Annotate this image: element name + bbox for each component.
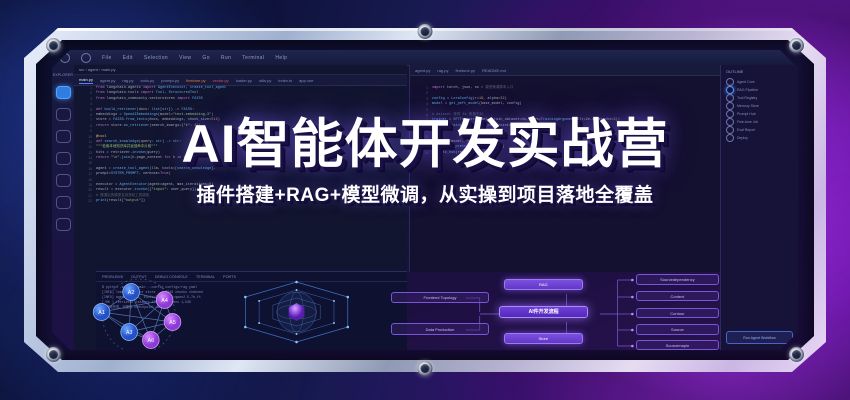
code-token: ) ->: [162, 140, 173, 144]
side-panel-row-label: Eval Report: [737, 128, 755, 132]
side-panel-row[interactable]: Tool Registry: [726, 94, 793, 102]
network-node-label: A6: [148, 338, 155, 344]
side-panel-row[interactable]: Fine-tune Job: [726, 118, 793, 126]
menu-item[interactable]: Selection: [144, 55, 168, 61]
side-panel-row[interactable]: Eval Report: [726, 126, 793, 134]
bezel-bolt-icon: [46, 38, 61, 53]
side-panel-header: OUTLINE: [726, 69, 793, 74]
code-token: ]): [141, 199, 145, 203]
code-token: ): [505, 97, 507, 101]
remote-icon[interactable]: [56, 196, 71, 209]
code-token: (result[: [107, 199, 124, 203]
code-text: prompt=SYSTEM_PROMPT, verbose=True): [96, 172, 171, 177]
code-token: OpenAIEmbeddings: [124, 113, 158, 117]
code-token: (query:: [139, 140, 156, 144]
bezel-bolt-icon: [46, 347, 61, 362]
flow-top-box[interactable]: RAG: [504, 279, 584, 290]
code-token: (model=: [158, 113, 173, 117]
code-token: print: [96, 199, 107, 203]
side-panel-row-label: RAG Pipeline: [737, 88, 758, 92]
side-panel-row[interactable]: Agent Core: [726, 78, 793, 86]
code-token: (resume_from_checkpoint=: [460, 124, 511, 128]
code-token: ): [502, 145, 504, 149]
flow-left-box[interactable]: Data Production: [391, 323, 490, 334]
code-token: # 模型微调脚本入口: [481, 86, 513, 90]
code-token: "agent-demo": [468, 151, 494, 155]
activity-bar-label: EXPLORER: [53, 73, 73, 77]
code-text: return store.as_retriever(search_kwargs=…: [96, 124, 201, 129]
status-dot-icon: [726, 118, 734, 126]
code-token: import: [143, 86, 156, 90]
code-token: import: [432, 86, 445, 90]
editor-tab[interactable]: loader.py: [236, 78, 252, 83]
code-token: (docs:: [137, 108, 152, 112]
code-token: import: [177, 97, 190, 101]
code-token: ): [169, 172, 171, 176]
code-token: (base_model, config): [479, 102, 522, 106]
code-token: invoke: [134, 188, 147, 192]
code-token: ): [211, 183, 213, 187]
code-token: push_to_hub: [432, 151, 455, 155]
code-token: store =: [96, 118, 113, 122]
code-token: "output": [124, 199, 141, 203]
side-panel: OUTLINE Agent CoreRAG PipelineTool Regis…: [720, 65, 798, 350]
menu-item[interactable]: Edit: [123, 55, 133, 61]
code-line: 22print(result["output"]): [74, 199, 407, 204]
network-node-label: A1: [98, 310, 105, 316]
code-text: push_to_hub(repo="agent-demo"): [432, 151, 496, 156]
network-node[interactable]: A3: [121, 324, 138, 341]
editor-tab[interactable]: main.py: [79, 77, 93, 84]
visualization-band: A1A2A3A4A5A6: [74, 272, 720, 350]
code-token: "text-embedding-3": [173, 113, 211, 117]
code-token: (repo=: [455, 151, 468, 155]
code-token: hits = retriever.: [96, 151, 132, 155]
code-token: model: [432, 102, 443, 106]
code-token: FAISS: [192, 97, 203, 101]
status-dot-icon: [726, 86, 734, 94]
code-token: from_texts: [126, 118, 147, 122]
code-text: trainer.train(resume_from_checkpoint=Tru…: [432, 124, 522, 129]
code-token: :: [192, 108, 194, 112]
code-token: list: [152, 108, 161, 112]
app-logo-icon: [81, 53, 91, 63]
code-token: executor =: [96, 183, 119, 187]
status-dot-icon: [726, 78, 734, 86]
code-token: SFTTrainer: [453, 118, 474, 122]
flow-right-box[interactable]: Sourcemapin: [636, 340, 719, 350]
code-token: trainer: [432, 118, 447, 122]
network-node[interactable]: A6: [142, 332, 159, 349]
code-token: config: [432, 97, 445, 101]
code-token: (agent=agent, max_iterations=: [147, 183, 209, 187]
code-text: import torch, json, os # 模型微调脚本入口: [432, 86, 513, 91]
status-dot-icon: [726, 134, 734, 142]
promo-banner: File Edit Selection View Go Run Terminal…: [0, 0, 850, 400]
ide-screen: File Edit Selection View Go Run Terminal…: [52, 50, 798, 350]
flow-right-box[interactable]: Sourcedependency: [636, 274, 719, 285]
code-token: True: [160, 172, 169, 176]
code-text: return "\n".join(h.page_content for h in…: [96, 156, 194, 161]
files-icon[interactable]: [56, 86, 71, 99]
code-token: "input": [152, 188, 167, 192]
code-token: (model, train_dataset=ds, args=: [475, 118, 541, 122]
side-panel-rows: Agent CoreRAG PipelineTool RegistryMemor…: [726, 78, 793, 142]
viz-svg: A1A2A3A4A5A6: [74, 272, 720, 350]
code-token: return: [96, 156, 109, 160]
code-token: (query): [145, 151, 160, 155]
code-text: print(result["output"]): [96, 199, 145, 204]
code-token: ): [520, 124, 522, 128]
code-token: FAISS: [181, 108, 192, 112]
editor-tab[interactable]: rag.py: [122, 78, 133, 83]
code-token: build_retriever: [105, 108, 137, 112]
code-token: : user_query}): [166, 188, 196, 192]
editor-tab[interactable]: prompt.py: [161, 78, 179, 83]
editor-tabs-right: agent.pyrag.pyfinetune.pyREADME.md: [410, 65, 720, 76]
code-token: embeddings =: [96, 113, 124, 117]
code-token: "out/ft-v2": [479, 145, 502, 149]
code-token: from: [96, 91, 105, 95]
code-token: StructuredTool: [169, 91, 199, 95]
code-token: return: [96, 124, 109, 128]
side-panel-row[interactable]: Prompt Hub: [726, 110, 793, 118]
code-token: AgentExecutor: [158, 86, 186, 90]
code-token: (docs, embeddings, chunk_size=: [147, 118, 211, 122]
network-node[interactable]: A5: [164, 314, 181, 331]
code-token: ): [211, 113, 213, 117]
menu-item[interactable]: View: [179, 55, 191, 61]
code-token: (search_kwargs={: [149, 124, 183, 128]
network-node-label: A4: [161, 298, 168, 304]
status-dot-icon: [726, 110, 734, 118]
code-token: import: [141, 91, 154, 95]
code-content-left[interactable]: 1from langchain.agents import AgentExecu…: [74, 84, 407, 272]
network-node[interactable]: A2: [123, 284, 140, 301]
editor-tab[interactable]: utils.py: [259, 78, 271, 83]
extensions-icon[interactable]: [56, 174, 71, 187]
code-content-right[interactable]: 1import torch, json, os # 模型微调脚本入口23conf…: [410, 84, 720, 272]
code-text: from langchain_community.vectorstores im…: [96, 97, 203, 102]
code-token: from: [96, 97, 105, 101]
code-token: create_tool_agent: [190, 86, 226, 90]
network-node[interactable]: A4: [156, 292, 173, 309]
code-token: AgentExecutor: [119, 183, 147, 187]
code-text: model = get_peft_model(base_model, confi…: [432, 102, 522, 107]
code-token: langchain.tools: [105, 91, 141, 95]
editor-tab[interactable]: README.md: [482, 68, 506, 73]
side-panel-row-label: Tool Registry: [737, 96, 757, 100]
menu-item[interactable]: Terminal: [242, 55, 264, 61]
code-token: , alpha=: [483, 97, 500, 101]
status-dot-icon: [726, 102, 734, 110]
editor-tab[interactable]: finetune.py: [186, 78, 206, 83]
code-token: (llm, tools=[: [149, 167, 177, 171]
editor-tab[interactable]: vector.py: [213, 78, 229, 83]
side-panel-row[interactable]: RAG Pipeline: [726, 86, 793, 94]
bezel-bolt-icon: [789, 38, 804, 53]
account-icon[interactable]: [56, 218, 71, 231]
code-token: ): [490, 140, 492, 144]
ide-menubar: File Edit Selection View Go Run Terminal…: [52, 50, 798, 66]
code-token: as_retriever: [124, 124, 150, 128]
flow-right-box[interactable]: Context: [636, 291, 719, 302]
code-token: evaluate: [432, 140, 449, 144]
network-node-label: A2: [128, 290, 135, 296]
code-token: (h.page_content: [130, 156, 164, 160]
line-number: 22: [74, 199, 96, 204]
code-token: torch, json, os: [445, 86, 481, 90]
code-token: """检索本地知识库并返回命中片段""": [96, 145, 158, 149]
code-token: LoraConfig: [451, 97, 472, 101]
menu-item[interactable]: Go: [202, 55, 209, 61]
code-token: langchain_community.vectorstores: [105, 97, 178, 101]
editor-tab[interactable]: index.ts: [278, 78, 292, 83]
flow-center-box[interactable]: AI件开发流程: [499, 306, 588, 318]
flow-left-box[interactable]: Frontend Topology: [391, 292, 490, 303]
editor-right: agent.pyrag.pyfinetune.pyREADME.md 1impo…: [409, 65, 720, 272]
side-panel-row-label: Prompt Hub: [737, 112, 756, 116]
status-dot-icon: [726, 94, 734, 102]
flow-right-box[interactable]: Source: [636, 324, 719, 335]
bezel-bolt-icon: [418, 361, 433, 376]
code-token: "\n": [111, 156, 120, 160]
code-token: agent =: [96, 167, 113, 171]
code-token: invoke: [132, 151, 145, 155]
bezel-bolt-icon: [418, 24, 433, 39]
breadcrumb: src › agent › main.py: [74, 65, 407, 75]
code-token: , verbose=: [139, 172, 160, 176]
code-token: TrainingArguments: [541, 118, 577, 122]
flow-bottom-box[interactable]: Store: [504, 333, 584, 344]
code-line: 13push_to_hub(repo="agent-demo"): [410, 151, 720, 156]
code-token: =2e-4, epochs=: [584, 118, 614, 122]
code-token: save_pretrained: [445, 145, 477, 149]
side-panel-row-label: Deploy: [737, 136, 748, 140]
code-token: result = executor.: [96, 188, 134, 192]
code-token: from: [96, 86, 105, 90]
side-panel-row-label: Fine-tune Job: [737, 120, 758, 124]
code-token: FAISS: [113, 118, 124, 122]
line-number: 13: [410, 151, 432, 156]
code-token: True: [511, 124, 520, 128]
network-node[interactable]: A1: [93, 304, 110, 321]
code-token: }): [196, 124, 200, 128]
run-workflow-button[interactable]: Run Agent Workflow: [726, 331, 793, 344]
network-node-label: A5: [169, 320, 176, 326]
editor-tab[interactable]: app.vue: [299, 78, 313, 83]
code-token: ): [494, 151, 496, 155]
ide-activity-bar: EXPLORER: [52, 65, 75, 350]
code-token: model.: [432, 145, 445, 149]
code-token: "val.jsonl": [466, 140, 489, 144]
editor-tab[interactable]: finetune.py: [455, 68, 475, 73]
code-token: SYSTEM_PROMPT: [111, 172, 139, 176]
side-panel-row-label: Agent Core: [737, 80, 755, 84]
code-token: trainer.: [432, 124, 449, 128]
code-token: search_knowledge: [105, 140, 139, 144]
code-token: ): [218, 118, 220, 122]
status-dot-icon: [726, 126, 734, 134]
code-token: get_peft_model: [449, 102, 479, 106]
side-panel-row-label: Memory Store: [737, 104, 759, 108]
flow-right-box[interactable]: Contour: [636, 308, 719, 319]
bezel-bolt-icon: [789, 347, 804, 362]
network-node-label: A3: [126, 330, 133, 336]
editor-tab[interactable]: agent.py: [415, 68, 430, 73]
menu-item[interactable]: Help: [275, 55, 287, 61]
code-token: search_knowledge: [177, 167, 211, 171]
menu-item[interactable]: Run: [221, 55, 231, 61]
source-control-icon[interactable]: [56, 130, 71, 143]
side-panel-row[interactable]: Memory Store: [726, 102, 793, 110]
code-token: # dataset 采样 8k 条指令对: [432, 113, 483, 117]
code-token: )): [616, 118, 620, 122]
code-token: :: [179, 140, 181, 144]
code-token: join: [122, 156, 131, 160]
debug-icon[interactable]: [56, 152, 71, 165]
code-token: (model,: [449, 140, 466, 144]
editor-tab[interactable]: rag.py: [437, 68, 448, 73]
code-token: create_tool_agent: [113, 167, 149, 171]
side-panel-row[interactable]: Deploy: [726, 134, 793, 142]
code-token: prompt=: [96, 172, 111, 176]
editor-tab[interactable]: agent.py: [100, 78, 115, 83]
code-token: train: [449, 124, 460, 128]
code-token: ],: [211, 167, 215, 171]
code-token: ]) ->: [169, 108, 182, 112]
editor-tab[interactable]: tools.py: [141, 78, 155, 83]
code-token: @tool: [96, 135, 107, 139]
menu-item[interactable]: File: [102, 55, 112, 61]
code-token: store.: [109, 124, 124, 128]
search-icon[interactable]: [56, 108, 71, 121]
code-token: langchain.agents: [105, 86, 143, 90]
network-edge: [102, 312, 173, 322]
code-token: hits): [181, 156, 194, 160]
code-token: # 微调后的模型支持多轮工具调用: [96, 194, 149, 198]
